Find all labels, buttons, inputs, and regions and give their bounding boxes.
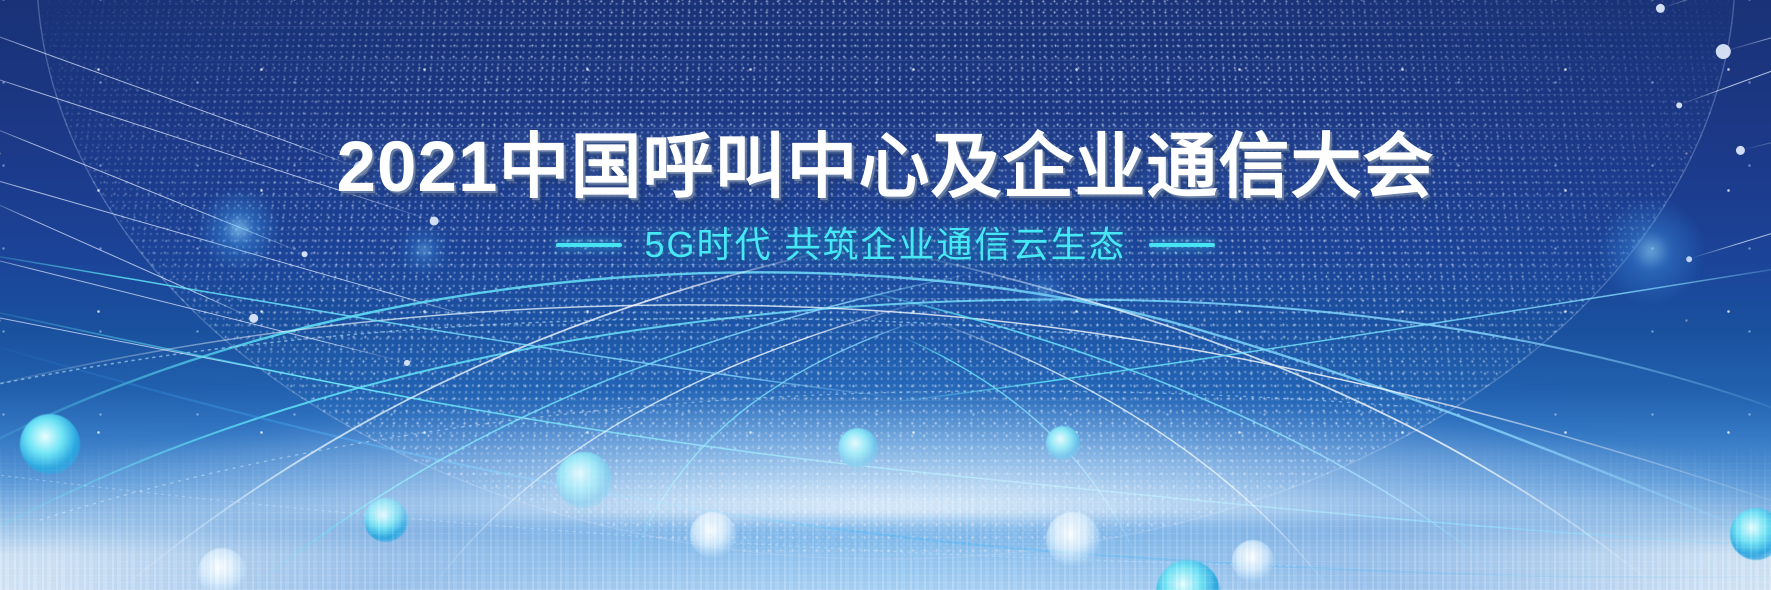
subtitle-rule-left xyxy=(556,243,622,247)
subtitle-rule-right xyxy=(1149,243,1215,247)
subtitle-row: 5G时代 共筑企业通信云生态 xyxy=(0,224,1771,266)
page-subtitle: 5G时代 共筑企业通信云生态 xyxy=(644,224,1126,266)
city-skyline xyxy=(0,440,1771,590)
banner-text-block: 2021中国呼叫中心及企业通信大会 5G时代 共筑企业通信云生态 xyxy=(0,128,1771,266)
page-title: 2021中国呼叫中心及企业通信大会 xyxy=(0,128,1771,208)
conference-banner: 2021中国呼叫中心及企业通信大会 5G时代 共筑企业通信云生态 xyxy=(0,0,1771,590)
